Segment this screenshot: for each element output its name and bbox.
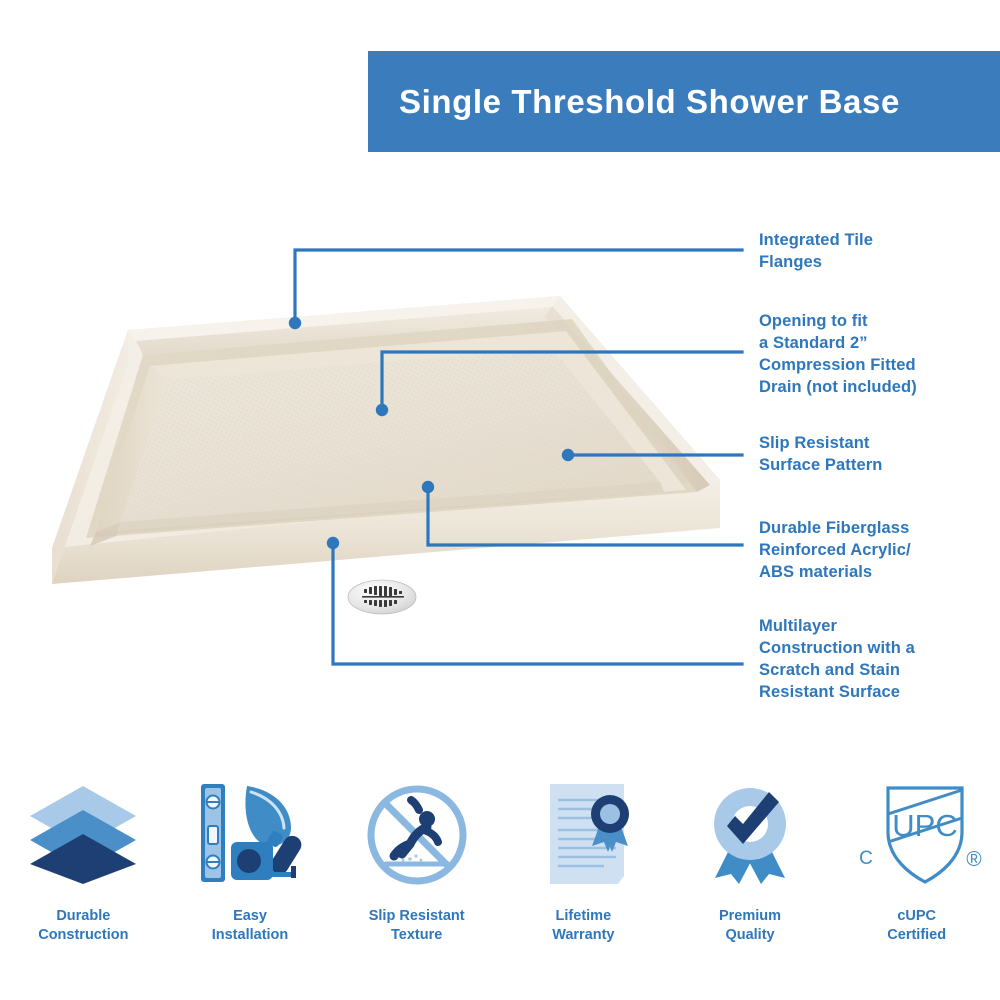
feature-durable-construction: Durable Construction [0, 775, 167, 970]
upc-shield-text: UPC [892, 808, 957, 843]
product-infographic: Single Threshold Shower Base [0, 0, 1000, 1000]
callout-multilayer-construction: Multilayer Construction with a Scratch a… [759, 615, 994, 703]
no-slip-sign-icon [358, 775, 476, 895]
product-illustration [0, 180, 760, 620]
feature-lifetime-warranty: Lifetime Warranty [500, 775, 667, 970]
shower-base-render [0, 180, 760, 620]
feature-label: Easy Installation [212, 907, 289, 944]
feature-slip-resistant-texture: Slip Resistant Texture [333, 775, 500, 970]
callout-slip-resistant-surface-pattern: Slip Resistant Surface Pattern [759, 432, 994, 476]
stacked-layers-icon [24, 775, 142, 895]
feature-label: Slip Resistant Texture [369, 907, 465, 944]
upc-shield-icon: UPC C ® [852, 775, 982, 895]
feature-premium-quality: Premium Quality [667, 775, 834, 970]
callout-durable-fiberglass-materials: Durable Fiberglass Reinforced Acrylic/ A… [759, 517, 994, 583]
feature-label: Lifetime Warranty [552, 907, 614, 944]
drain-grate [348, 580, 416, 614]
feature-label: Premium Quality [719, 907, 781, 944]
rosette-checkmark-icon [691, 775, 809, 895]
callout-integrated-tile-flanges: Integrated Tile Flanges [759, 229, 994, 273]
certificate-ribbon-icon [524, 775, 642, 895]
level-trowel-tape-icon [191, 775, 309, 895]
feature-label: Durable Construction [38, 907, 128, 944]
upc-right-mark: ® [966, 848, 982, 871]
page-title: Single Threshold Shower Base [368, 85, 900, 118]
upc-left-mark: C [859, 848, 873, 869]
callout-drain-opening: Opening to fit a Standard 2” Compression… [759, 310, 994, 398]
feature-easy-installation: Easy Installation [167, 775, 334, 970]
title-banner: Single Threshold Shower Base [368, 51, 1000, 152]
feature-cupc-certified: UPC C ® cUPC Certified [833, 775, 1000, 970]
feature-label: cUPC Certified [887, 907, 946, 944]
feature-strip: Durable Construction [0, 775, 1000, 970]
